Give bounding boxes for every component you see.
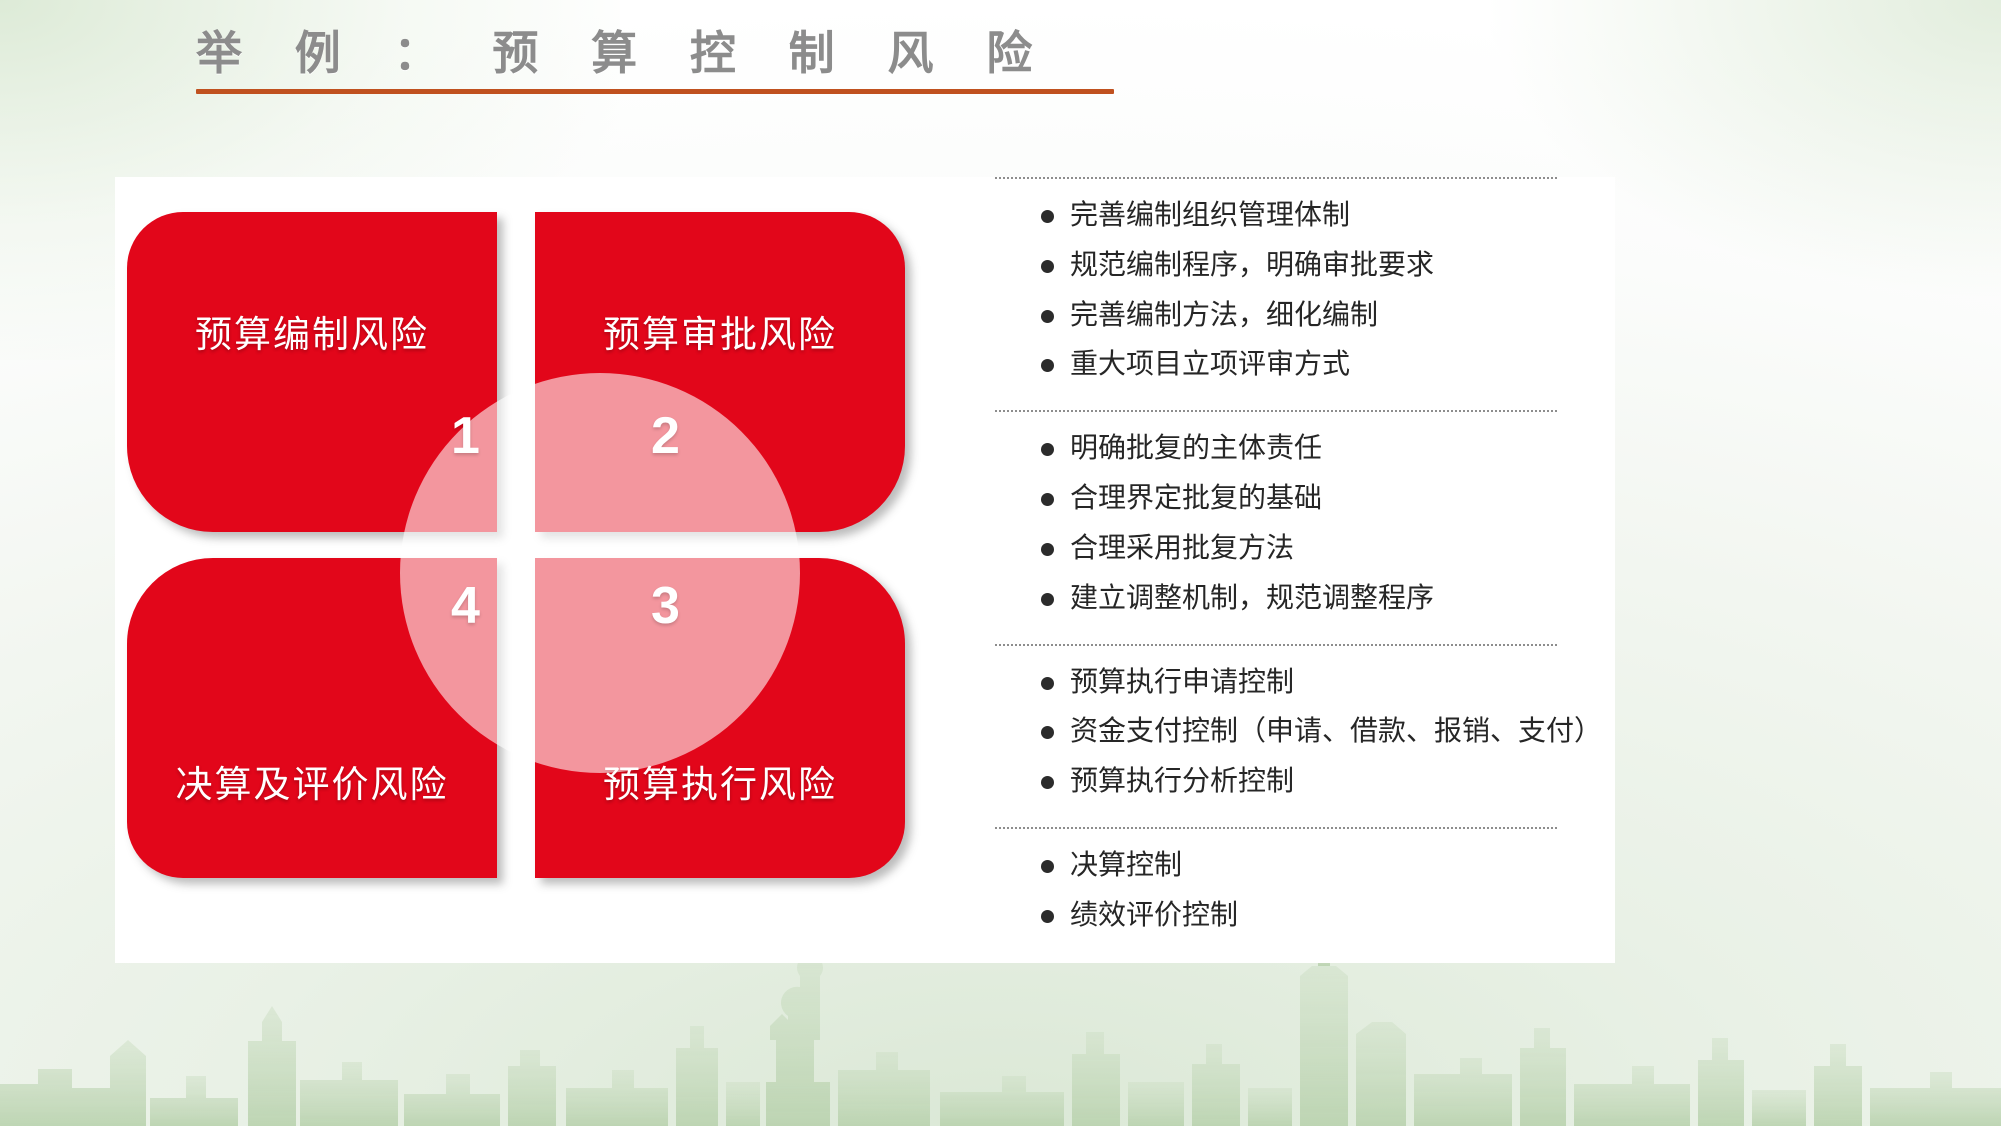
quadrant-number-1: 1: [451, 406, 480, 466]
quadrant-tile-4[interactable]: 决算及评价风险: [127, 558, 497, 878]
quadrant-number-2: 2: [651, 406, 680, 466]
bullet-text: 预算执行分析控制: [1070, 763, 1294, 799]
list-item: 预算执行申请控制: [1041, 664, 1575, 700]
bullet-dot-icon: [1041, 310, 1054, 323]
bullet-group-3: 预算执行申请控制资金支付控制（申请、借款、报销、支付）预算执行分析控制: [995, 664, 1575, 799]
bullet-dot-icon: [1041, 359, 1054, 372]
bullet-dot-icon: [1041, 443, 1054, 456]
bullet-group-divider: [995, 644, 1557, 646]
list-item: 完善编制方法，细化编制: [1041, 297, 1575, 333]
bullet-group-2: 明确批复的主体责任合理界定批复的基础合理采用批复方法建立调整机制，规范调整程序: [995, 430, 1575, 615]
bullet-text: 建立调整机制，规范调整程序: [1070, 580, 1434, 616]
bullet-group-spacer: [995, 396, 1575, 410]
bullet-text: 资金支付控制（申请、借款、报销、支付）: [1070, 713, 1602, 749]
bullet-group-spacer: [995, 813, 1575, 827]
bullet-group-1: 完善编制组织管理体制规范编制程序，明确审批要求完善编制方法，细化编制重大项目立项…: [995, 197, 1575, 382]
quadrant-number-3: 3: [651, 576, 680, 636]
list-item: 合理界定批复的基础: [1041, 480, 1575, 516]
bullet-dot-icon: [1041, 726, 1054, 739]
bullet-list-column: 完善编制组织管理体制规范编制程序，明确审批要求完善编制方法，细化编制重大项目立项…: [995, 177, 1575, 963]
list-item: 资金支付控制（申请、借款、报销、支付）: [1041, 713, 1575, 749]
bullet-dot-icon: [1041, 260, 1054, 273]
list-item: 决算控制: [1041, 847, 1575, 883]
list-item: 绩效评价控制: [1041, 897, 1575, 933]
bullet-text: 完善编制方法，细化编制: [1070, 297, 1378, 333]
bullet-group-divider: [995, 410, 1557, 412]
list-item: 建立调整机制，规范调整程序: [1041, 580, 1575, 616]
list-item: 合理采用批复方法: [1041, 530, 1575, 566]
bullet-group-spacer: [995, 630, 1575, 644]
quadrant-label-2: 预算审批风险: [535, 304, 905, 358]
bullet-text: 绩效评价控制: [1070, 897, 1238, 933]
quadrant-label-4: 决算及评价风险: [127, 754, 497, 808]
bullet-dot-icon: [1041, 543, 1054, 556]
bullet-text: 重大项目立项评审方式: [1070, 346, 1350, 382]
page-title: 举 例 ： 预 算 控 制 风 险: [196, 30, 1114, 76]
bullet-dot-icon: [1041, 210, 1054, 223]
list-item: 完善编制组织管理体制: [1041, 197, 1575, 233]
slide-background: 举 例 ： 预 算 控 制 风 险 预算编制风险 预算审批风险 决算及评价风险 …: [0, 0, 2001, 1126]
quadrant-label-3: 预算执行风险: [535, 754, 905, 808]
content-card: 预算编制风险 预算审批风险 决算及评价风险 预算执行风险 1 2 4 3 完善编…: [115, 177, 1615, 963]
quadrant-tile-2[interactable]: 预算审批风险: [535, 212, 905, 532]
bullet-text: 合理采用批复方法: [1070, 530, 1294, 566]
list-item: 规范编制程序，明确审批要求: [1041, 247, 1575, 283]
bullet-text: 合理界定批复的基础: [1070, 480, 1322, 516]
quadrant-label-1: 预算编制风险: [127, 304, 497, 358]
list-item: 重大项目立项评审方式: [1041, 346, 1575, 382]
quadrant-number-4: 4: [451, 576, 480, 636]
bullet-dot-icon: [1041, 493, 1054, 506]
quadrant-tile-1[interactable]: 预算编制风险: [127, 212, 497, 532]
bullet-group-divider: [995, 827, 1557, 829]
bullet-text: 明确批复的主体责任: [1070, 430, 1322, 466]
bullet-dot-icon: [1041, 677, 1054, 690]
title-block: 举 例 ： 预 算 控 制 风 险: [196, 30, 1114, 94]
bullet-dot-icon: [1041, 910, 1054, 923]
bullet-group-spacer: [995, 947, 1575, 961]
list-item: 预算执行分析控制: [1041, 763, 1575, 799]
bullet-dot-icon: [1041, 776, 1054, 789]
bullet-dot-icon: [1041, 593, 1054, 606]
bullet-text: 规范编制程序，明确审批要求: [1070, 247, 1434, 283]
bullet-text: 完善编制组织管理体制: [1070, 197, 1350, 233]
bullet-text: 预算执行申请控制: [1070, 664, 1294, 700]
title-underline-rule: [196, 89, 1114, 94]
quadrant-tile-3[interactable]: 预算执行风险: [535, 558, 905, 878]
list-item: 明确批复的主体责任: [1041, 430, 1575, 466]
bullet-text: 决算控制: [1070, 847, 1182, 883]
bullet-group-4: 决算控制绩效评价控制: [995, 847, 1575, 933]
bullet-group-divider: [995, 177, 1557, 179]
quadrant-diagram: 预算编制风险 预算审批风险 决算及评价风险 预算执行风险 1 2 4 3: [115, 198, 925, 928]
bullet-dot-icon: [1041, 860, 1054, 873]
